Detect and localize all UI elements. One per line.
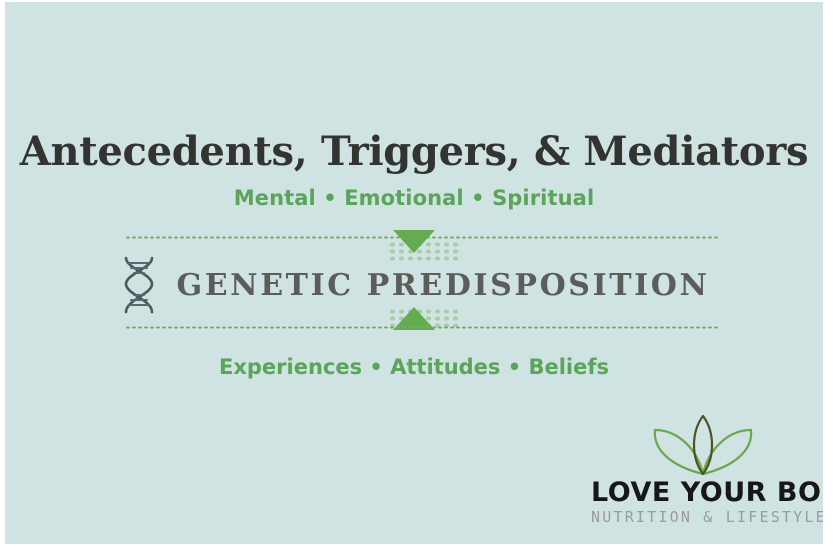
brand-name: LOVE YOUR BODY [591, 476, 815, 508]
headline-block: Antecedents, Triggers, & Mediators Menta… [5, 127, 823, 211]
dotted-divider-bottom [125, 326, 719, 329]
genetic-row: GENETIC PREDISPOSITION [5, 262, 823, 310]
triangle-down-icon [393, 230, 435, 253]
three-leaf-icon [647, 414, 759, 476]
genetic-predisposition-label: GENETIC PREDISPOSITION [176, 269, 709, 303]
page-title: Antecedents, Triggers, & Mediators [5, 127, 823, 177]
slide-canvas: Antecedents, Triggers, & Mediators Menta… [5, 2, 823, 544]
subtitle-bottom: Experiences • Attitudes • Beliefs [5, 354, 823, 380]
brand-logo: LOVE YOUR BODY NUTRITION & LIFESTYLE [591, 414, 815, 532]
subtitle-top: Mental • Emotional • Spiritual [5, 177, 823, 211]
brand-tagline: NUTRITION & LIFESTYLE [591, 508, 815, 527]
genetic-predisposition-band: GENETIC PREDISPOSITION [5, 230, 823, 340]
slide-frame: Antecedents, Triggers, & Mediators Menta… [0, 0, 835, 554]
dna-helix-icon [118, 256, 160, 316]
